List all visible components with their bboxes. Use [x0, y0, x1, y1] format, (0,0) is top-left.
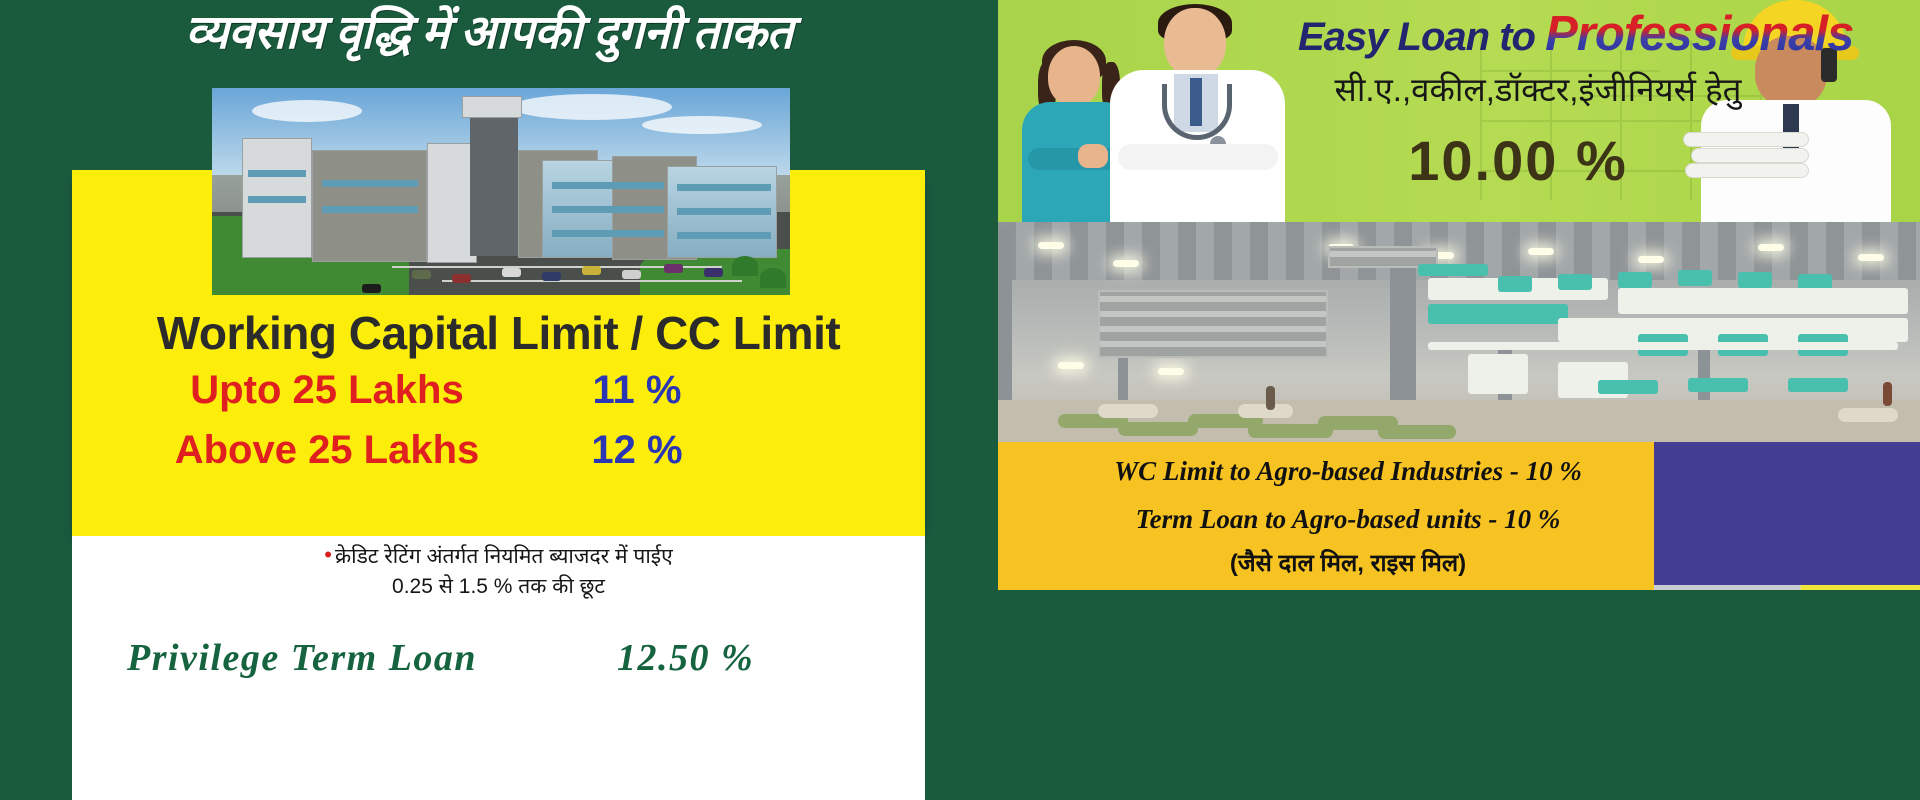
privilege-term-loan-row: Privilege Term Loan 12.50 % [72, 636, 925, 688]
professionals-text: Professionals [1545, 7, 1853, 61]
privilege-label: Privilege Term Loan [127, 636, 477, 680]
rate-label: Upto 25 Lakhs [117, 368, 537, 413]
rate-value: 11 % [527, 368, 747, 413]
agro-wc-limit-line: WC Limit to Agro-based Industries - 10 % [998, 456, 1698, 487]
easy-loan-text: Easy Loan to [1298, 15, 1545, 59]
professionals-rate: 10.00 % [1198, 128, 1838, 193]
working-capital-title: Working Capital Limit / CC Limit [72, 306, 925, 360]
page-headline: व्यवसाय वृद्धि में आपकी दुगनी ताकत [0, 2, 978, 64]
professionals-banner: Easy Loan to Professionals सी.ए.,वकील,डॉ… [998, 0, 1920, 222]
purple-accent-block [1654, 442, 1920, 590]
rate-row: Upto 25 Lakhs 11 % [72, 368, 925, 422]
rate-label: Above 25 Lakhs [117, 428, 537, 473]
note-line-2: 0.25 से 1.5 % तक की छूट [72, 572, 925, 602]
bullet-icon: • [324, 542, 332, 567]
agro-mill-photo [998, 222, 1920, 442]
bank-building-photo [212, 88, 790, 295]
credit-rating-note: •क्रेडिट रेटिंग अंतर्गत नियमित ब्याजदर म… [72, 540, 925, 602]
right-panel: Easy Loan to Professionals सी.ए.,वकील,डॉ… [978, 0, 1920, 800]
agro-examples-line: (जैसे दाल मिल, राइस मिल) [998, 546, 1698, 579]
note-line-1: •क्रेडिट रेटिंग अंतर्गत नियमित ब्याजदर म… [72, 540, 925, 572]
note-line-1-text: क्रेडिट रेटिंग अंतर्गत नियमित ब्याजदर मे… [335, 545, 673, 568]
left-panel: व्यवसाय वृद्धि में आपकी दुगनी ताकत [0, 0, 978, 800]
privilege-value: 12.50 % [617, 636, 754, 680]
bottom-accent-stripe [1654, 585, 1920, 590]
professionals-title: Easy Loan to Professionals [1298, 6, 1858, 62]
agro-loans-card: WC Limit to Agro-based Industries - 10 %… [998, 442, 1698, 590]
professionals-subtitle: सी.ए.,वकील,डॉक्टर,इंजीनियर्स हेतु [1178, 66, 1898, 111]
rate-row: Above 25 Lakhs 12 % [72, 428, 925, 482]
rate-value: 12 % [527, 428, 747, 473]
agro-term-loan-line: Term Loan to Agro-based units - 10 % [998, 504, 1698, 535]
